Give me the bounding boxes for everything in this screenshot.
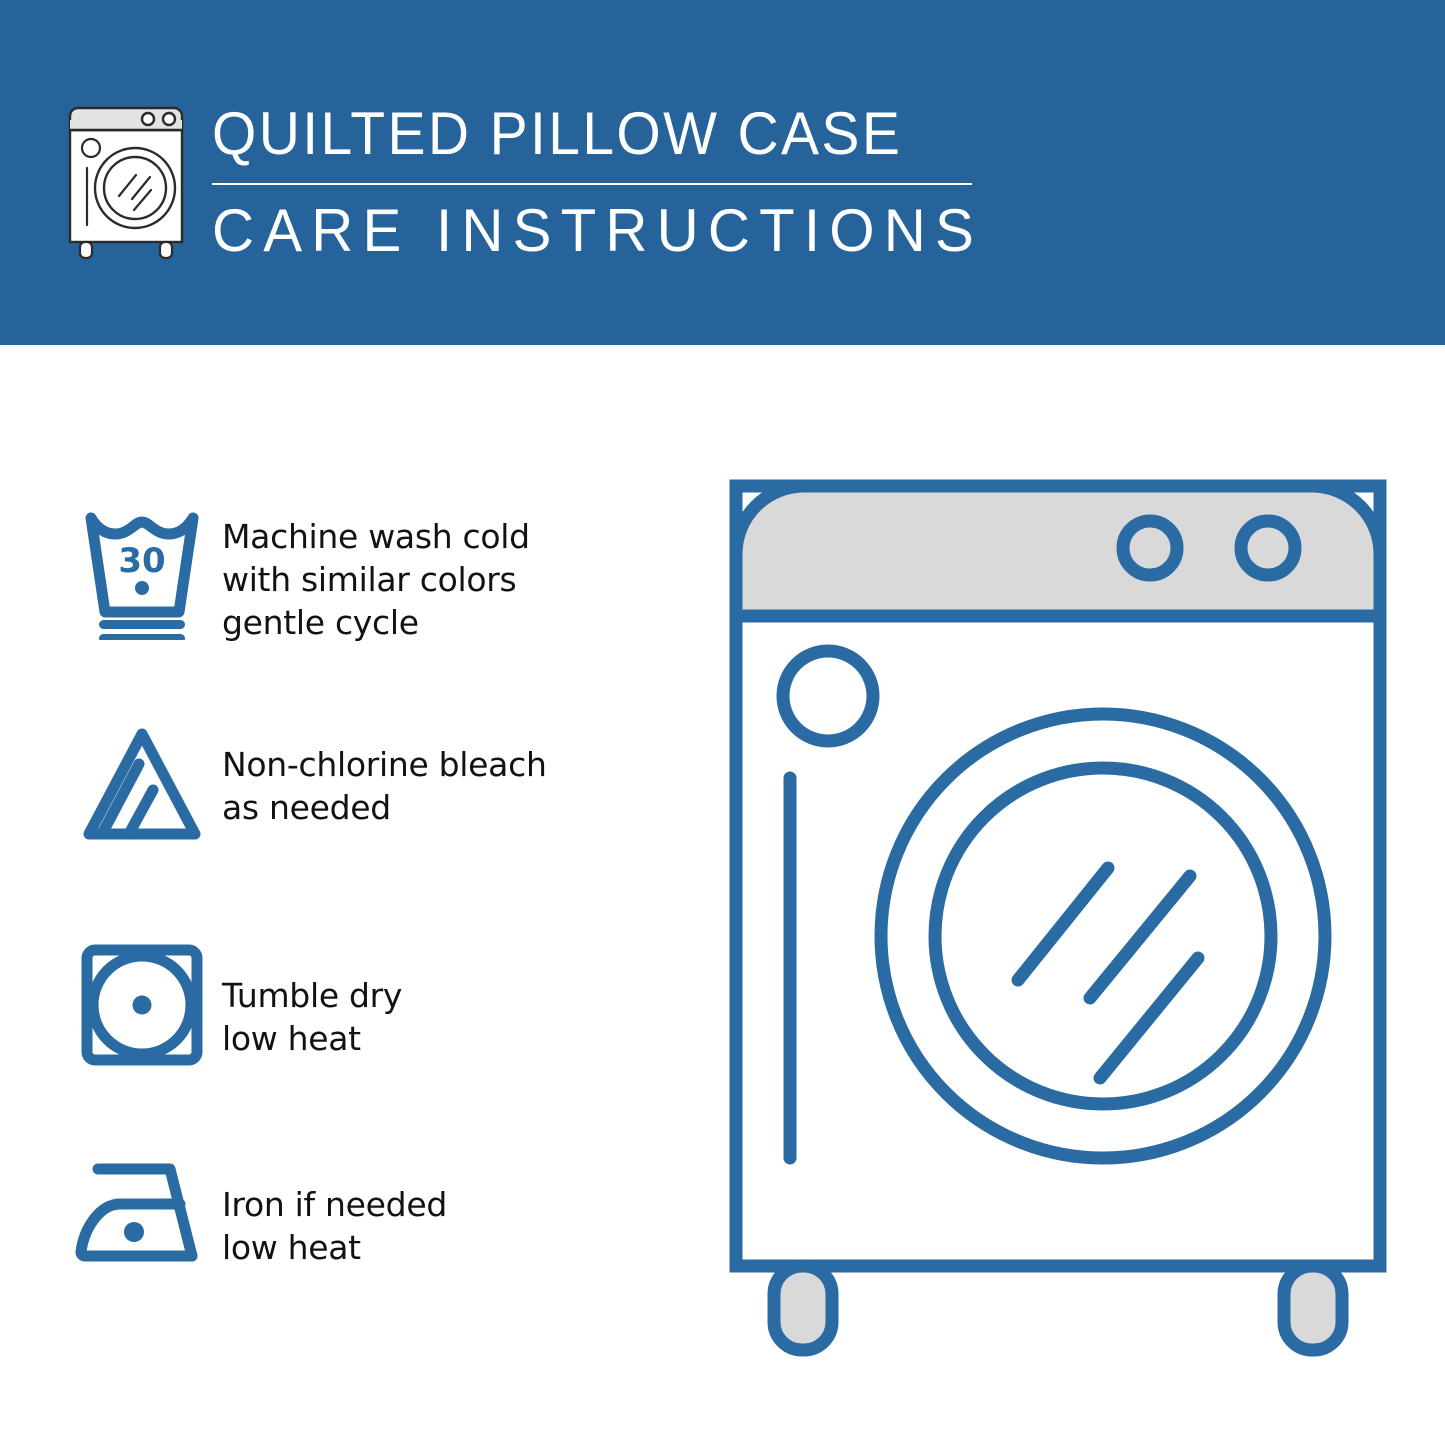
care-item-label: Iron if needed low heat	[222, 1152, 447, 1270]
care-item-non-chlorine-bleach: Non-chlorine bleach as needed	[62, 722, 547, 852]
iron-low-heat-icon	[62, 1152, 222, 1272]
care-item-iron: Iron if needed low heat	[62, 1152, 447, 1272]
control-panel-fill	[736, 486, 1380, 616]
care-item-label: Tumble dry low heat	[222, 940, 402, 1061]
tumble-dry-low-icon	[62, 940, 222, 1070]
wash-tub-30-icon: 30	[62, 500, 222, 640]
page-subtitle: CARE INSTRUCTIONS	[212, 201, 978, 261]
page-title: QUILTED PILLOW CASE	[212, 104, 963, 164]
header-text-block: QUILTED PILLOW CASE CARE INSTRUCTIONS	[212, 104, 1002, 261]
wash-temperature-label: 30	[118, 541, 165, 581]
care-item-label: Machine wash cold with similar colors ge…	[222, 500, 530, 645]
care-item-label: Non-chlorine bleach as needed	[222, 722, 547, 830]
care-item-machine-wash: 30 Machine wash cold with similar colors…	[62, 500, 530, 645]
title-divider	[212, 183, 972, 185]
washing-machine-icon	[62, 98, 194, 260]
machine-leg-left	[774, 1266, 832, 1350]
non-chlorine-bleach-triangle-icon	[62, 722, 222, 852]
care-item-tumble-dry: Tumble dry low heat	[62, 940, 402, 1070]
header-band: QUILTED PILLOW CASE CARE INSTRUCTIONS	[0, 0, 1445, 345]
machine-leg-right	[1284, 1266, 1342, 1350]
front-load-washing-machine-illustration	[718, 468, 1418, 1368]
care-instructions-page: QUILTED PILLOW CASE CARE INSTRUCTIONS 30…	[0, 0, 1445, 1445]
